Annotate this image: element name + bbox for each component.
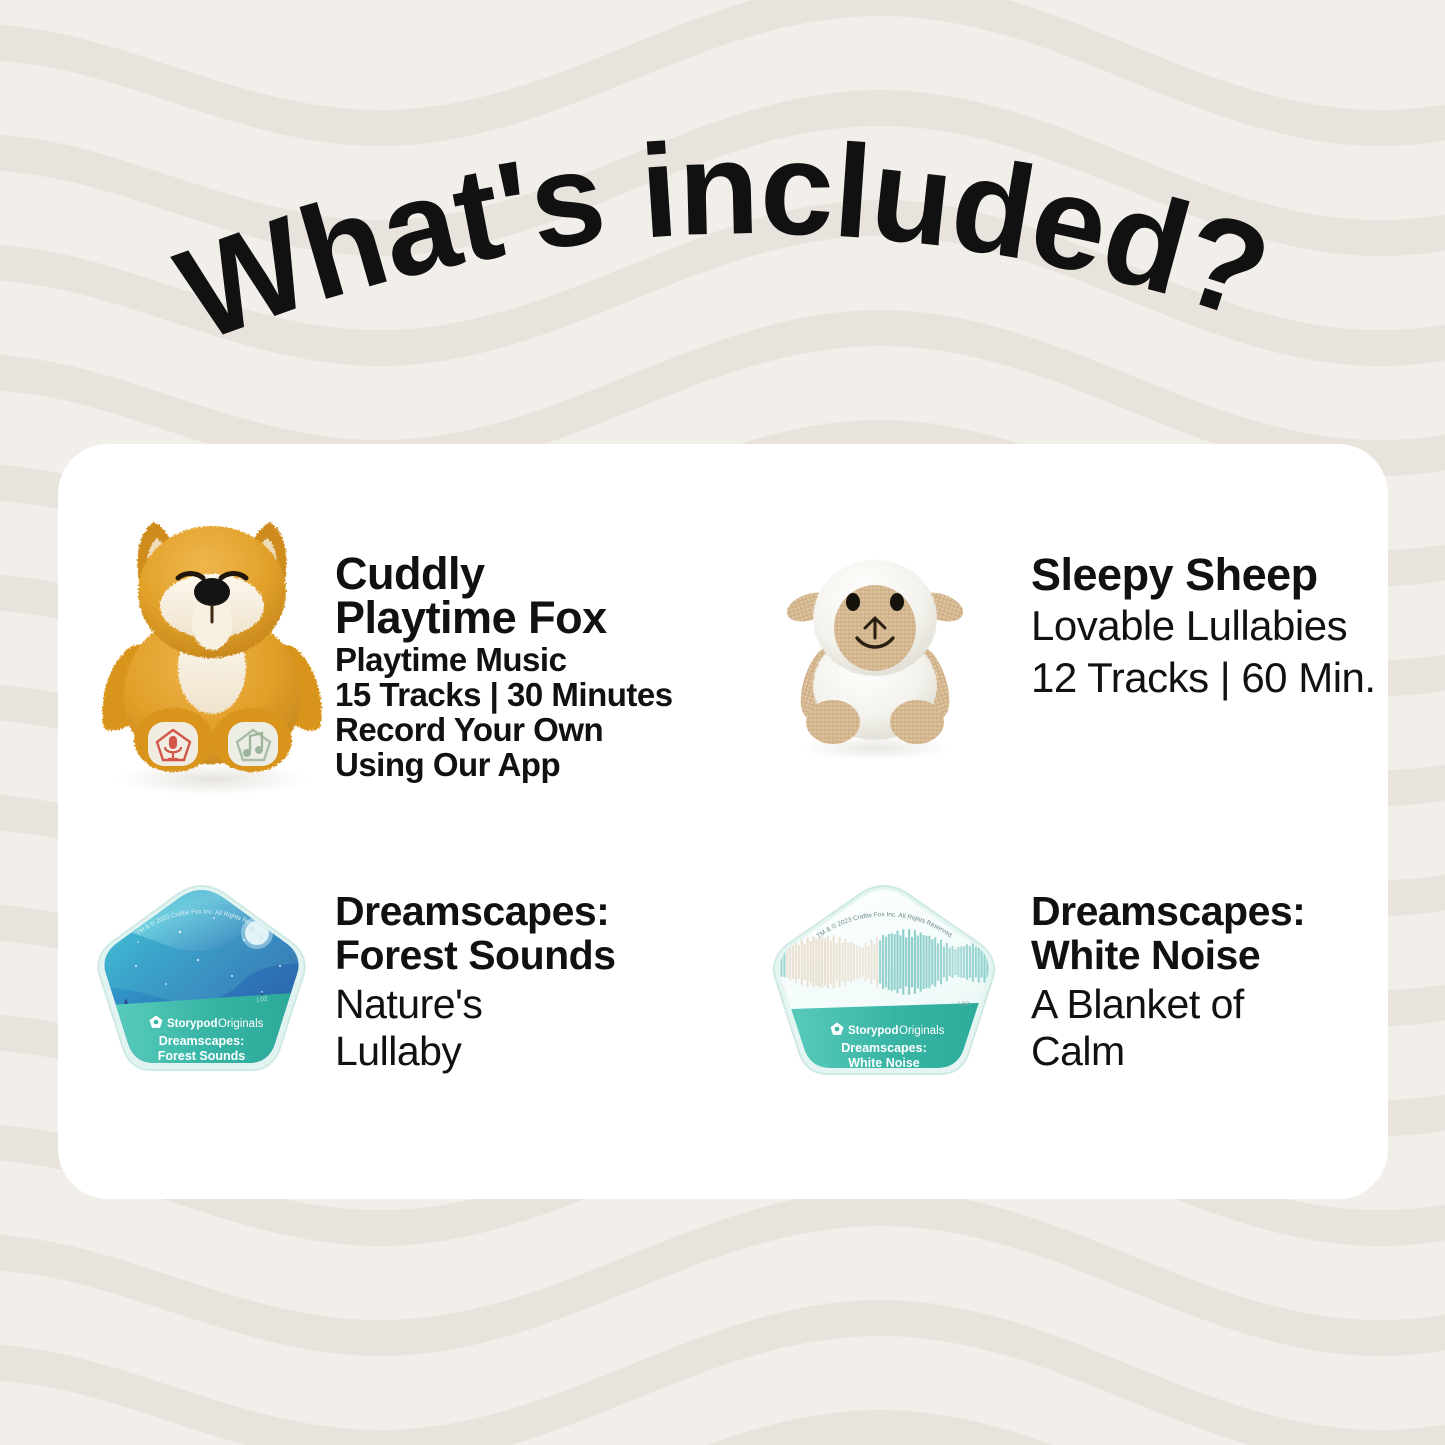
item-text-white-noise: Dreamscapes: White Noise A Blanket of Ca…: [1031, 889, 1381, 1076]
item-sleepy-sheep[interactable]: Sleepy Sheep Lovable Lullabies 12 Tracks…: [723, 444, 1388, 844]
craftie-title-line-2-forest: Forest Sounds: [158, 1049, 246, 1063]
forest-name: Dreamscapes: Forest Sounds: [335, 889, 695, 978]
fox-plush-photo: [86, 496, 334, 796]
item-text-forest: Dreamscapes: Forest Sounds Nature's Lull…: [335, 889, 695, 1076]
craftie-card-forest[interactable]: TM & © 2023 Craftie Fox Inc. All Rights …: [94, 880, 309, 1135]
brand-suffix-white-noise: Originals: [899, 1025, 945, 1037]
item-dreamscapes-forest-sounds[interactable]: TM & © 2023 Craftie Fox Inc. All Rights …: [58, 844, 723, 1199]
sheep-plush-photo: [775, 540, 975, 760]
fox-details: Playtime Music 15 Tracks | 30 Minutes Re…: [335, 643, 695, 783]
craftie-title-line-1-forest: Dreamscapes:: [159, 1034, 244, 1048]
brand-name-white-noise: Storypod: [848, 1025, 898, 1037]
craftie-title-line-1-white-noise: Dreamscapes:: [841, 1041, 926, 1055]
brand-name-forest: Storypod: [167, 1018, 217, 1030]
sheep-details: Lovable Lullabies 12 Tracks | 60 Min.: [1031, 600, 1381, 704]
white-noise-details: A Blanket of Calm: [1031, 981, 1381, 1076]
content-card: Cuddly Playtime Fox Playtime Music 15 Tr…: [58, 444, 1388, 1199]
items-row-top: Cuddly Playtime Fox Playtime Music 15 Tr…: [58, 444, 1388, 844]
page-title-text: What's included?: [161, 114, 1285, 369]
item-text-sheep: Sleepy Sheep Lovable Lullabies 12 Tracks…: [1031, 552, 1381, 704]
item-dreamscapes-white-noise[interactable]: TM & © 2023 Craftie Fox Inc. All Rights …: [723, 844, 1388, 1199]
forest-details: Nature's Lullaby: [335, 981, 695, 1076]
page-title: What's included?: [0, 90, 1445, 390]
craftie-card-white-noise[interactable]: TM & © 2023 Craftie Fox Inc. All Rights …: [759, 880, 1009, 1135]
brand-suffix-forest: Originals: [218, 1018, 264, 1030]
white-noise-name: Dreamscapes: White Noise: [1031, 889, 1381, 978]
sheep-name: Sleepy Sheep: [1031, 552, 1381, 597]
craftie-title-line-2-white-noise: White Noise: [848, 1056, 920, 1070]
fox-name: Cuddly Playtime Fox: [335, 552, 695, 639]
item-text-fox: Cuddly Playtime Fox Playtime Music 15 Tr…: [335, 552, 695, 783]
craftie-code-white-noise: L02: [958, 1001, 970, 1008]
items-row-bottom: TM & © 2023 Craftie Fox Inc. All Rights …: [58, 844, 1388, 1199]
item-cuddly-playtime-fox[interactable]: Cuddly Playtime Fox Playtime Music 15 Tr…: [58, 444, 723, 844]
